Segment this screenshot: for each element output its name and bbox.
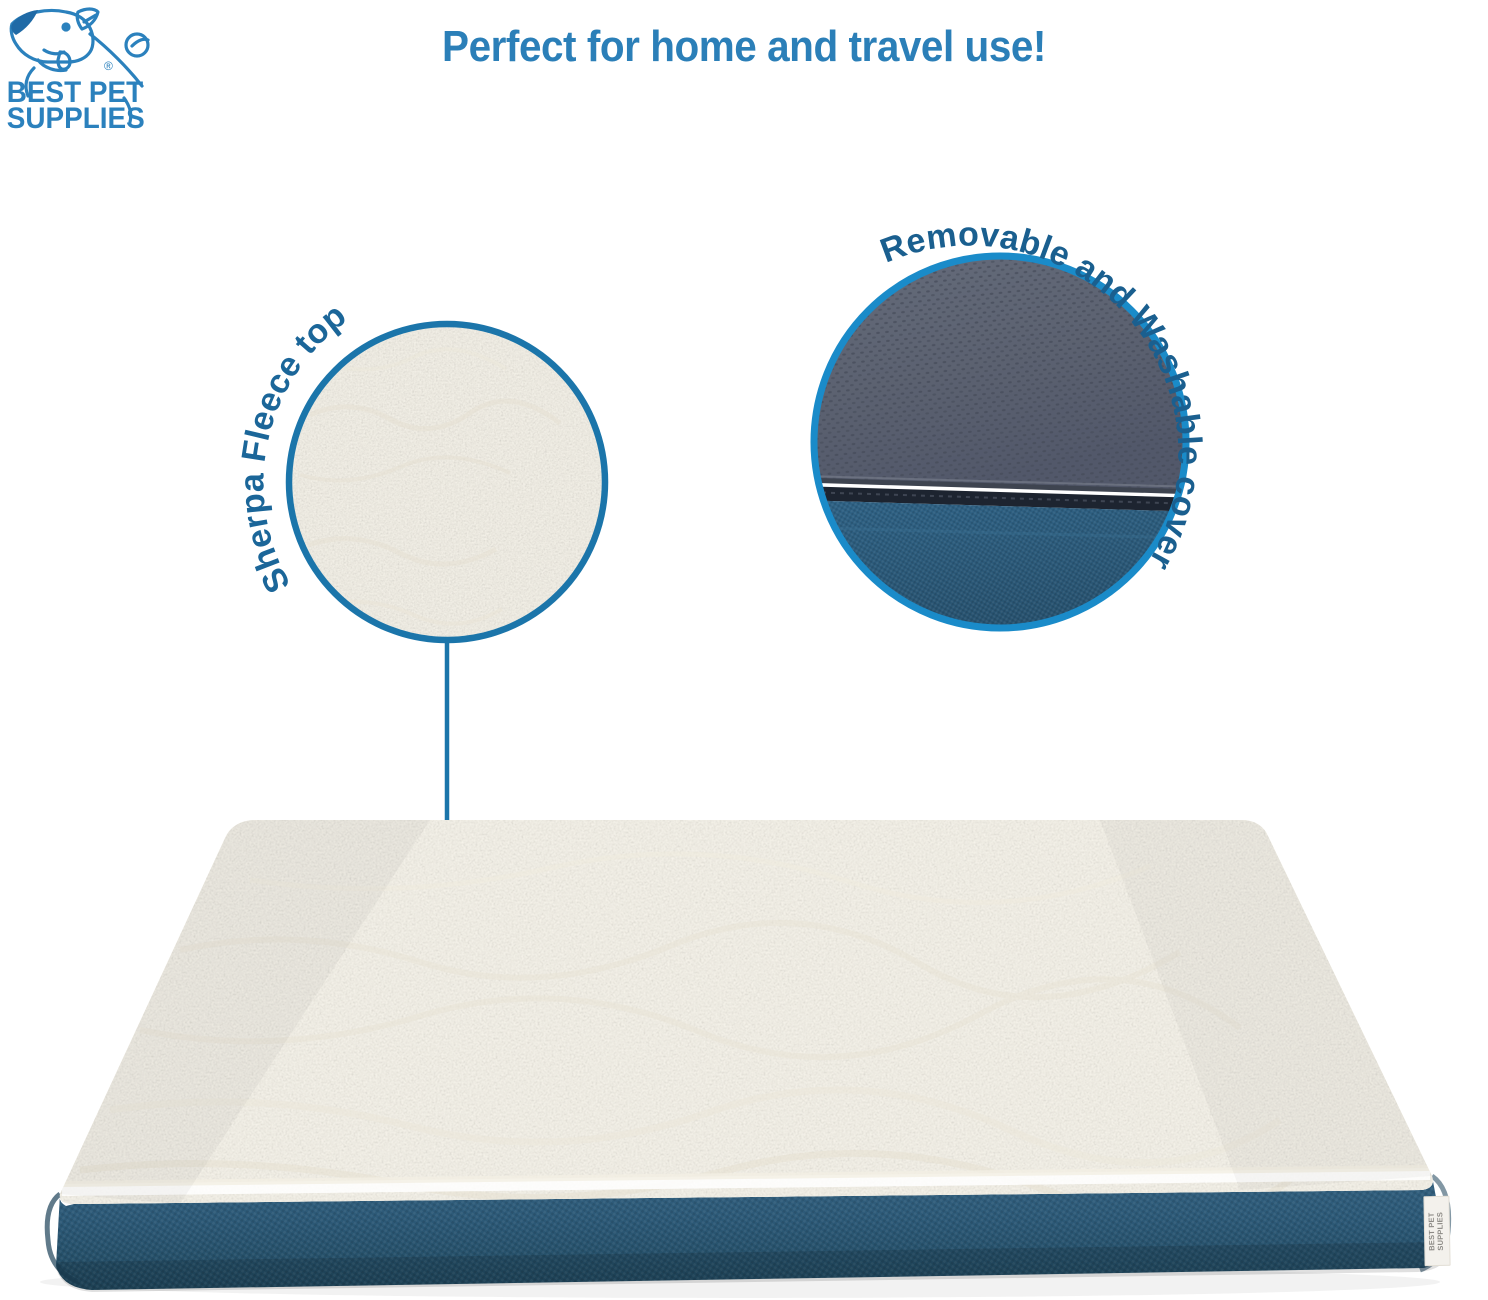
brand-tag-text: BEST PET SUPPLIES <box>1428 1211 1446 1250</box>
product-bed-image <box>0 770 1488 1300</box>
logo-line-2: SUPPLIES <box>7 102 145 130</box>
brand-care-tag: BEST PET SUPPLIES <box>1423 1196 1450 1266</box>
headline-text: Perfect for home and travel use! <box>60 22 1429 72</box>
callout-removable-washable-cover: Removable and Washable cover <box>760 180 1280 700</box>
bed-sherpa-top <box>40 810 1460 1220</box>
product-infographic: ® BEST PET SUPPLIES Perfect for home and… <box>0 0 1488 1300</box>
